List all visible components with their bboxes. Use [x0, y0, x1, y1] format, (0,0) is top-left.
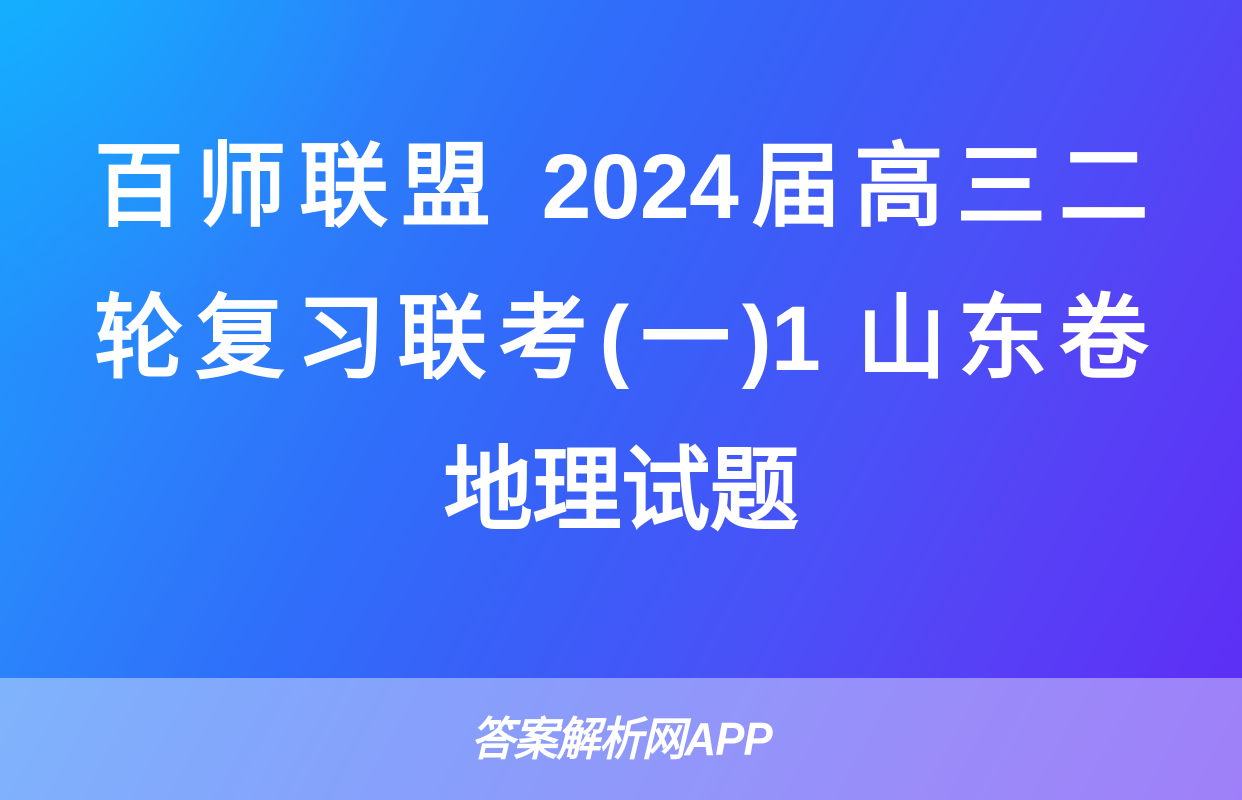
watermark-label: 答案解析网APP — [471, 716, 772, 762]
watermark-band: 答案解析网APP — [0, 678, 1242, 800]
title-card: 百师联盟 2024届高三二 轮复习联考(一)1 山东卷 地理试题 答案解析网AP… — [0, 0, 1242, 800]
page-title: 百师联盟 2024届高三二 轮复习联考(一)1 山东卷 地理试题 — [0, 0, 1242, 678]
page-title-line-2: 轮复习联考(一)1 山东卷 — [94, 263, 1147, 415]
page-title-line-3: 地理试题 — [94, 415, 1147, 567]
page-title-line-1: 百师联盟 2024届高三二 — [94, 111, 1147, 263]
